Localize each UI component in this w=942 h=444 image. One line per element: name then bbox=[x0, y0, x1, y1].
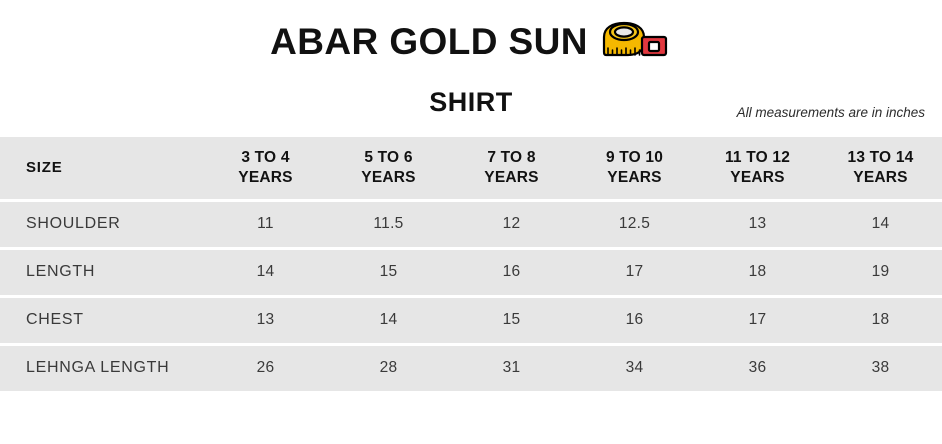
column-header-age-7-8: 7 TO 8 YEARS bbox=[450, 137, 573, 200]
column-header-age-13-14: 13 TO 14 YEARS bbox=[819, 137, 942, 200]
column-header-line1: 5 TO 6 bbox=[364, 149, 412, 166]
table-row: LEHNGA LENGTH 26 28 31 34 36 38 bbox=[0, 344, 942, 392]
column-header-line2: YEARS bbox=[204, 168, 327, 187]
cell-length-9-10: 17 bbox=[573, 248, 696, 296]
table-header-row: SIZE 3 TO 4 YEARS 5 TO 6 YEARS 7 TO 8 YE… bbox=[0, 137, 942, 200]
cell-chest-11-12: 17 bbox=[696, 296, 819, 344]
column-header-line2: YEARS bbox=[819, 168, 942, 187]
page-title: ABAR GOLD SUN bbox=[270, 22, 588, 63]
cell-chest-9-10: 16 bbox=[573, 296, 696, 344]
column-header-line2: YEARS bbox=[573, 168, 696, 187]
cell-chest-5-6: 14 bbox=[327, 296, 450, 344]
cell-chest-3-4: 13 bbox=[204, 296, 327, 344]
garment-subheader: SHIRT All measurements are in inches bbox=[0, 87, 942, 132]
column-header-line1: 7 TO 8 bbox=[487, 149, 535, 166]
column-header-line1: 11 TO 12 bbox=[725, 149, 790, 166]
size-chart-page: ABAR GOLD SUN SHIRT All measurements are… bbox=[0, 0, 942, 444]
cell-lehnga-length-9-10: 34 bbox=[573, 344, 696, 392]
cell-shoulder-9-10: 12.5 bbox=[573, 200, 696, 248]
cell-length-13-14: 19 bbox=[819, 248, 942, 296]
cell-length-5-6: 15 bbox=[327, 248, 450, 296]
brand-header: ABAR GOLD SUN bbox=[0, 0, 942, 65]
cell-chest-13-14: 18 bbox=[819, 296, 942, 344]
cell-lehnga-length-11-12: 36 bbox=[696, 344, 819, 392]
cell-lehnga-length-7-8: 31 bbox=[450, 344, 573, 392]
column-header-line2: YEARS bbox=[696, 168, 819, 187]
cell-lehnga-length-5-6: 28 bbox=[327, 344, 450, 392]
column-header-age-5-6: 5 TO 6 YEARS bbox=[327, 137, 450, 200]
row-label-lehnga-length: LEHNGA LENGTH bbox=[0, 344, 204, 392]
column-header-line2: YEARS bbox=[327, 168, 450, 187]
column-header-line1: 3 TO 4 bbox=[241, 149, 289, 166]
cell-length-7-8: 16 bbox=[450, 248, 573, 296]
row-label-shoulder: SHOULDER bbox=[0, 200, 204, 248]
measurement-unit-note: All measurements are in inches bbox=[737, 105, 925, 120]
table-row: CHEST 13 14 15 16 17 18 bbox=[0, 296, 942, 344]
table-row: SHOULDER 11 11.5 12 12.5 13 14 bbox=[0, 200, 942, 248]
column-header-age-11-12: 11 TO 12 YEARS bbox=[696, 137, 819, 200]
cell-chest-7-8: 15 bbox=[450, 296, 573, 344]
cell-shoulder-5-6: 11.5 bbox=[327, 200, 450, 248]
size-chart-table: SIZE 3 TO 4 YEARS 5 TO 6 YEARS 7 TO 8 YE… bbox=[0, 137, 942, 394]
measuring-tape-icon bbox=[598, 19, 672, 65]
row-label-chest: CHEST bbox=[0, 296, 204, 344]
cell-length-11-12: 18 bbox=[696, 248, 819, 296]
column-header-line2: YEARS bbox=[450, 168, 573, 187]
row-label-length: LENGTH bbox=[0, 248, 204, 296]
cell-lehnga-length-13-14: 38 bbox=[819, 344, 942, 392]
column-header-age-9-10: 9 TO 10 YEARS bbox=[573, 137, 696, 200]
cell-shoulder-11-12: 13 bbox=[696, 200, 819, 248]
column-header-size: SIZE bbox=[0, 137, 204, 200]
cell-length-3-4: 14 bbox=[204, 248, 327, 296]
column-header-age-3-4: 3 TO 4 YEARS bbox=[204, 137, 327, 200]
cell-shoulder-13-14: 14 bbox=[819, 200, 942, 248]
column-header-line1: 9 TO 10 bbox=[606, 149, 663, 166]
cell-shoulder-7-8: 12 bbox=[450, 200, 573, 248]
cell-shoulder-3-4: 11 bbox=[204, 200, 327, 248]
table-row: LENGTH 14 15 16 17 18 19 bbox=[0, 248, 942, 296]
column-header-line1: 13 TO 14 bbox=[848, 149, 914, 166]
cell-lehnga-length-3-4: 26 bbox=[204, 344, 327, 392]
